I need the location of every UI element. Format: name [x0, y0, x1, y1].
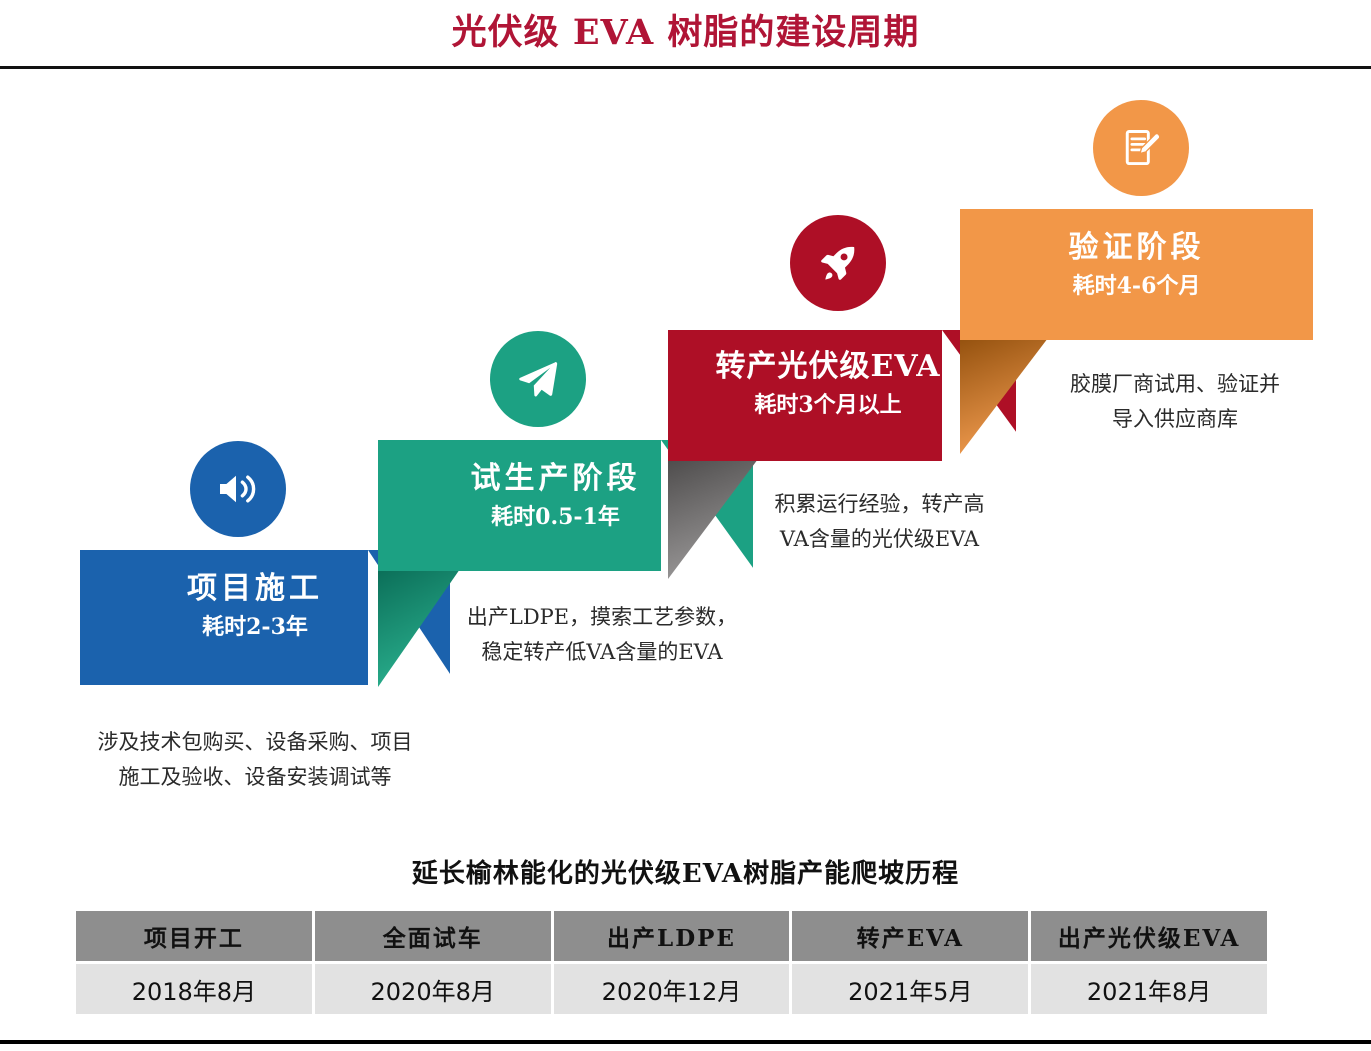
header-divider	[0, 66, 1371, 69]
paper-plane-icon	[515, 356, 561, 402]
stage-banner-verification: 验证阶段 耗时4-6个月	[960, 231, 1313, 298]
page-title: 光伏级 EVA 树脂的建设周期	[0, 4, 1371, 55]
stage-description-verification: 胶膜厂商试用、验证并 导入供应商库	[1020, 367, 1330, 436]
table-title: 延长榆林能化的光伏级EVA树脂产能爬坡历程	[0, 853, 1371, 890]
stage-badge-switch-to-pv-eva[interactable]	[790, 215, 886, 311]
stage-duration-verification: 耗时4-6个月	[960, 274, 1313, 298]
document-edit-icon	[1119, 126, 1163, 170]
capacity-ramp-table: 项目开工 全面试车 出产LDPE 转产EVA 出产光伏级EVA 2018年8月 …	[73, 908, 1270, 1017]
table-header-cell-1: 全面试车	[315, 911, 551, 961]
table-header-cell-2: 出产LDPE	[554, 911, 790, 961]
table-cell-3: 2021年5月	[792, 964, 1028, 1014]
stage-duration-switch-to-pv-eva: 耗时3个月以上	[668, 393, 988, 417]
stage-description-switch-to-pv-eva: 积累运行经验，转产高 VA含量的光伏级EVA	[727, 487, 1032, 556]
stage-badge-construction[interactable]	[190, 441, 286, 537]
table-row: 2018年8月 2020年8月 2020年12月 2021年5月 2021年8月	[76, 964, 1267, 1014]
table-header-cell-3: 转产EVA	[792, 911, 1028, 961]
table-cell-1: 2020年8月	[315, 964, 551, 1014]
footer-divider	[0, 1040, 1371, 1044]
table-header-cell-4: 出产光伏级EVA	[1031, 911, 1267, 961]
stage-banner-switch-to-pv-eva: 转产光伏级EVA 耗时3个月以上	[668, 350, 988, 417]
table-cell-2: 2020年12月	[554, 964, 790, 1014]
stage-description-trial-production: 出产LDPE，摸索工艺参数， 稳定转产低VA含量的EVA	[437, 600, 767, 669]
speaker-icon	[214, 465, 262, 513]
table-cell-4: 2021年8月	[1031, 964, 1267, 1014]
stage-description-construction: 涉及技术包购买、设备采购、项目 施工及验收、设备安装调试等	[45, 725, 465, 794]
stage-name-switch-to-pv-eva: 转产光伏级EVA	[668, 350, 988, 383]
rocket-icon	[816, 241, 860, 285]
slide-canvas: 光伏级 EVA 树脂的建设周期 项目施工 耗时2-3年 涉及技术包购买、设备采购…	[0, 0, 1371, 1051]
stage-badge-trial-production[interactable]	[490, 331, 586, 427]
table-cell-0: 2018年8月	[76, 964, 312, 1014]
table-header-row: 项目开工 全面试车 出产LDPE 转产EVA 出产光伏级EVA	[76, 911, 1267, 961]
table-header-cell-0: 项目开工	[76, 911, 312, 961]
stage-badge-verification[interactable]	[1093, 100, 1189, 196]
stage-name-verification: 验证阶段	[960, 231, 1313, 264]
